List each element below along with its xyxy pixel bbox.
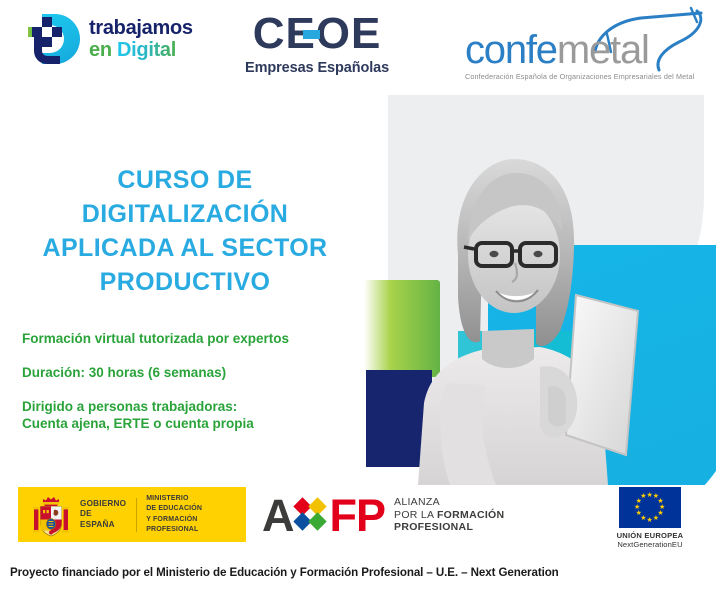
eu-line2: NextGenerationEU xyxy=(600,540,700,549)
header-logo-bar: trabajamos en Digital CEOE Empresas Espa… xyxy=(0,0,716,100)
eu-flag-icon: ★★★★★★★★★★★★ xyxy=(619,487,681,528)
woman-with-tablet-photo xyxy=(390,135,640,485)
course-title: CURSO DE DIGITALIZACIÓN APLICADA AL SECT… xyxy=(20,163,350,299)
title-line-4: PRODUCTIVO xyxy=(20,265,350,299)
logo-confemetal-wordmark: confemetal xyxy=(465,30,705,70)
eu-star-icon: ★ xyxy=(634,504,640,511)
detail-audience-detail: Cuenta ajena, ERTE o cuenta propia xyxy=(22,415,352,432)
promotional-poster: trabajamos en Digital CEOE Empresas Espa… xyxy=(0,0,716,600)
logo-ceoe: CEOE Empresas Españolas xyxy=(245,12,389,76)
axfp-letter-a: A xyxy=(262,493,294,538)
logo-trabajamos-line1: trabajamos xyxy=(89,18,193,38)
gobierno-line2: DE ESPAÑA xyxy=(80,509,126,530)
logo-confemetal: confemetal Confederación Española de Org… xyxy=(465,10,705,81)
title-line-2: DIGITALIZACIÓN xyxy=(20,197,350,231)
logo-confemetal-confe: confe xyxy=(465,28,557,72)
gobierno-divider xyxy=(136,498,137,532)
ministerio-line3: Y FORMACIÓN PROFESIONAL xyxy=(146,515,246,535)
ceoe-accent-bar-icon xyxy=(303,30,320,39)
gobierno-line1: GOBIERNO xyxy=(80,499,126,510)
footer-logo-bar: GOBIERNO DE ESPAÑA MINISTERIO DE EDUCACI… xyxy=(0,485,716,555)
logo-union-europea: ★★★★★★★★★★★★ UNIÓN EUROPEA NextGeneratio… xyxy=(600,487,700,549)
detail-duration: Duración: 30 horas (6 semanas) xyxy=(22,364,352,381)
gobierno-text: GOBIERNO DE ESPAÑA xyxy=(80,499,126,531)
axfp-tagline: ALIANZA POR LA FORMACIÓN PROFESIONAL xyxy=(394,496,504,534)
logo-trabajamos-en-digital: trabajamos en Digital xyxy=(28,14,193,64)
logo-trabajamos-digital: Digital xyxy=(117,39,176,61)
logo-alianza-formacion-profesional: A FP ALIANZA POR LA FORMACIÓN PROFESIONA… xyxy=(262,489,504,541)
logo-gobierno-de-espana: GOBIERNO DE ESPAÑA MINISTERIO DE EDUCACI… xyxy=(18,487,246,542)
eu-star-icon: ★ xyxy=(647,517,653,524)
eu-star-icon: ★ xyxy=(653,515,659,522)
ministerio-text: MINISTERIO DE EDUCACIÓN Y FORMACIÓN PROF… xyxy=(146,494,246,535)
logo-confemetal-subtitle: Confederación Española de Organizaciones… xyxy=(465,72,705,81)
trabajamos-digital-mark-icon xyxy=(28,14,80,64)
logo-ceoe-subtitle: Empresas Españolas xyxy=(245,60,389,76)
funding-caption: Proyecto financiado por el Ministerio de… xyxy=(10,566,710,579)
spain-coat-of-arms-icon xyxy=(32,493,70,537)
axfp-tagline-line3: PROFESIONAL xyxy=(394,521,504,534)
logo-trabajamos-en: en xyxy=(89,39,117,61)
title-line-3: APLICADA AL SECTOR xyxy=(20,231,350,265)
eu-star-icon: ★ xyxy=(640,493,646,500)
axfp-x-icon xyxy=(295,499,327,531)
title-line-1: CURSO DE xyxy=(20,163,350,197)
axfp-tagline-line1: ALIANZA xyxy=(394,496,504,509)
hero-visual xyxy=(330,95,716,485)
axfp-letters-fp: FP xyxy=(330,493,386,538)
ministerio-line2: DE EDUCACIÓN xyxy=(146,504,246,514)
ministerio-line1: MINISTERIO xyxy=(146,494,246,504)
eu-line1: UNIÓN EUROPEA xyxy=(600,531,700,540)
axfp-tagline-line2-normal: POR LA xyxy=(394,509,437,521)
axfp-tagline-line2-bold: FORMACIÓN xyxy=(437,509,504,521)
course-details: Formación virtual tutorizada por experto… xyxy=(22,330,352,432)
detail-modality: Formación virtual tutorizada por experto… xyxy=(22,330,352,347)
detail-audience-heading: Dirigido a personas trabajadoras: xyxy=(22,398,352,415)
logo-confemetal-metal: metal xyxy=(557,28,649,72)
logo-ceoe-wordmark: CEOE xyxy=(253,12,382,56)
eu-star-icon: ★ xyxy=(636,510,642,517)
axfp-tagline-line2: POR LA FORMACIÓN xyxy=(394,509,504,522)
